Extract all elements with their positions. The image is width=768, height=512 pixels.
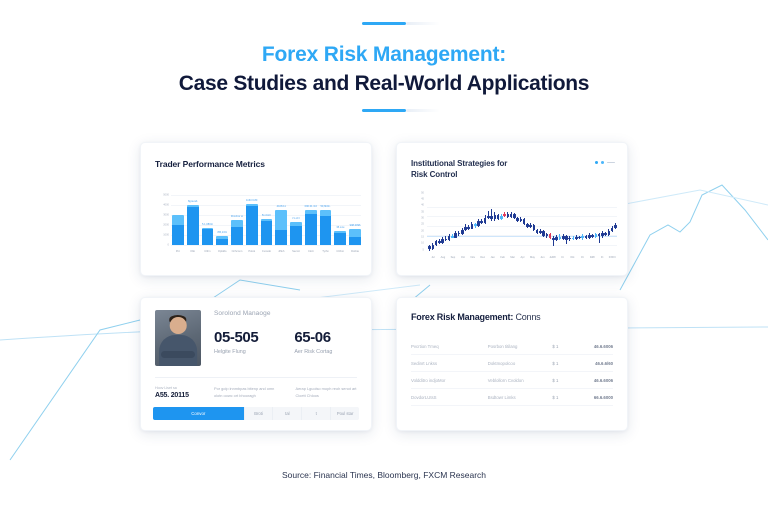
- bar-value-label: 8t5,1/01: [217, 231, 226, 234]
- bar-column: 8grevab: [187, 185, 199, 245]
- table-cell-value: $ 1: [552, 344, 572, 349]
- bar-x-tick: Clthn: [202, 247, 214, 259]
- table-row[interactable]: Voldditro indjoMorVeblollorn Cvoldon$ 14…: [411, 372, 613, 389]
- candle-body: [467, 227, 470, 229]
- candle-body: [523, 219, 526, 223]
- candle-chart-plot: 5045403530252015105 JulAugSepOctNovDecJa…: [411, 191, 617, 267]
- candle-body: [438, 241, 441, 243]
- candle-body: [562, 236, 565, 239]
- page-header: Forex Risk Management: Case Studies and …: [0, 22, 768, 112]
- bar-segment-base: [246, 206, 258, 245]
- profile-top-row: Sorolond Manaoge 05-505 Helgite Flung 65…: [155, 310, 357, 366]
- candle-body: [480, 221, 483, 223]
- candle-y-tick: 40: [421, 204, 424, 207]
- candle-y-tick: 5: [423, 248, 424, 251]
- candle-body: [507, 214, 510, 217]
- bar-segment-base: [231, 227, 243, 246]
- table-cell-name: DovdorLUtsS: [411, 395, 488, 400]
- candle-x-tick: Sep: [448, 256, 458, 267]
- bar-segment-upper: [172, 215, 184, 225]
- candle-body: [542, 231, 545, 235]
- candle-chart-legend: [595, 159, 615, 164]
- stat-caption: Helgite Flung: [214, 349, 258, 355]
- profile-action-button[interactable]: tal: [272, 407, 301, 420]
- bar-value-label: t'1 o0 l: [292, 217, 300, 220]
- bar-segment-base: [216, 239, 228, 245]
- candle-body: [474, 224, 477, 226]
- candle-chart-y-axis: 5045403530252015105: [411, 191, 426, 254]
- bar-column: 51.0n0 l: [261, 185, 273, 245]
- profile-stat-1: 05-505 Helgite Flung: [214, 330, 258, 355]
- bar-value-label: 998.0096: [350, 224, 361, 227]
- candle-y-tick: 30: [421, 217, 424, 220]
- candle-x-tick: Feb: [498, 256, 508, 267]
- profile-divider: [155, 377, 357, 378]
- candle-chart-x-axis: JulAugSepOctNovDecJanFebMarAprMayJunJul0…: [428, 256, 617, 267]
- candle-body: [500, 216, 503, 219]
- bar-x-tick: Clott: [305, 247, 317, 259]
- candle-body: [497, 215, 500, 219]
- table-title-bold: Forex Risk Management:: [411, 312, 513, 322]
- page-title-line2: Case Studies and Real-World Applications: [0, 72, 768, 96]
- bar-column: 090.01 /10: [305, 185, 317, 245]
- bar-column: 5.1,0801t: [202, 185, 214, 245]
- bar-value-label: 50,6b0n.: [320, 205, 330, 208]
- avatar-body: [159, 335, 197, 366]
- candle-x-tick: Jan: [488, 256, 498, 267]
- candle-x-tick: FXFN: [607, 256, 617, 267]
- bar-column: 998.0096: [349, 185, 361, 245]
- table-row[interactable]: Pvcrtion TmeqPosrbon titilang$ 146.6.600…: [411, 338, 613, 355]
- candle-body: [601, 233, 604, 236]
- card-risk-management-table[interactable]: Forex Risk Management: Conns Pvcrtion Tm…: [396, 297, 628, 431]
- bar-y-tick: 0: [168, 244, 169, 247]
- stat-caption: Aer Risk Cortag: [294, 349, 332, 355]
- bar-x-tick: Jihkh: [275, 247, 287, 259]
- candle-body: [546, 234, 549, 235]
- candle-x-tick: Jul08: [547, 256, 557, 267]
- source-footer: Source: Financial Times, Bloomberg, FXCM…: [0, 470, 768, 480]
- bar-x-tick: Cvosdo: [261, 247, 273, 259]
- candle-body: [477, 221, 480, 226]
- bar-value-label: 35.o1u: [336, 226, 344, 229]
- candle-body: [464, 227, 467, 230]
- candle-x-tick: Aug: [438, 256, 448, 267]
- table-cell-name: Sedinrt Lnkss: [411, 361, 488, 366]
- candle-body: [533, 225, 536, 230]
- candle-y-tick: 50: [421, 191, 424, 194]
- bar-y-tick: 3000: [163, 214, 169, 217]
- avatar-arms: [161, 351, 195, 358]
- candle-body: [487, 216, 490, 219]
- candle-body: [510, 214, 513, 217]
- bar-column: 8t5,1/01: [216, 185, 228, 245]
- profile-action-button[interactable]: Convor: [153, 407, 244, 420]
- candle-body: [490, 216, 493, 220]
- candle-body: [614, 225, 617, 228]
- profile-notes: Por golp innmbpas bitenp and omn olotn o…: [214, 386, 357, 400]
- candle-x-tick: Okt: [567, 256, 577, 267]
- bar-x-tick: Oplddo: [216, 247, 228, 259]
- bar-x-tick: Pnt: [172, 247, 184, 259]
- candle-body: [513, 214, 516, 218]
- page-root: Forex Risk Management: Case Studies and …: [0, 0, 768, 512]
- candle-body: [595, 234, 598, 237]
- candle-body: [539, 231, 542, 233]
- legend-dot-a-icon: [595, 161, 598, 164]
- table-cell-type: Veblollorn Cvoldon: [488, 378, 553, 383]
- bar-y-tick: 2000: [163, 223, 169, 226]
- table-cell-amount: 46.6.6006: [573, 378, 613, 383]
- legend-dash-icon: [607, 162, 615, 164]
- candle-body: [529, 225, 532, 227]
- stat-value: 65-06: [294, 330, 332, 345]
- bar-segment-upper: [275, 210, 287, 230]
- profile-role: Sorolond Manaoge: [214, 310, 357, 317]
- bar-x-tick: Ollo: [187, 247, 199, 259]
- table-cell-name: Pvcrtion Tmeq: [411, 344, 488, 349]
- candle-x-tick: Jul: [428, 256, 438, 267]
- bar-segment-base: [320, 216, 332, 245]
- candle-title-line2: Risk Control: [411, 170, 507, 181]
- header-rule-bottom: [362, 109, 406, 112]
- candle-body: [435, 241, 438, 245]
- profile-stats: 05-505 Helgite Flung 65-06 Aer Risk Cort…: [214, 330, 357, 355]
- candle-x-tick: Dec: [478, 256, 488, 267]
- bar-column: [172, 185, 184, 245]
- bar-column: Fbccbor st: [231, 185, 243, 245]
- profile-note-1: Por golp innmbpas bitenp and omn olotn o…: [214, 386, 276, 400]
- bar-x-tick: Secrot: [290, 247, 302, 259]
- candle-x-tick: Ot: [577, 256, 587, 267]
- candle-body: [451, 236, 454, 237]
- table-rows: Pvcrtion TmeqPosrbon titilang$ 146.6.600…: [411, 338, 613, 406]
- candle-body: [559, 237, 562, 239]
- profile-action-button[interactable]: Poul star: [330, 407, 359, 420]
- page-title-line1: Forex Risk Management:: [0, 43, 768, 67]
- bar-segment-base: [187, 207, 199, 245]
- candle-body: [608, 231, 611, 235]
- table-cell-value: $ 1: [552, 361, 572, 366]
- bar-segment-base: [202, 229, 214, 245]
- bar-segment-base: [275, 230, 287, 245]
- candle-body: [581, 236, 584, 238]
- table-cell-type: Bsdtowr Limks: [488, 395, 553, 400]
- candle-x-tick: Apr: [518, 256, 528, 267]
- candle-x-tick: May: [528, 256, 538, 267]
- candle-body: [549, 234, 552, 237]
- table-cell-type: Posrbon titilang: [488, 344, 553, 349]
- table-cell-value: $ 1: [552, 378, 572, 383]
- candle-chart-title: Institutional Strategies for Risk Contro…: [411, 159, 507, 181]
- profile-action-button[interactable]: t: [301, 407, 330, 420]
- candle-x-tick: Mar: [508, 256, 518, 267]
- candle-chart-header: Institutional Strategies for Risk Contro…: [411, 159, 615, 181]
- bar-segment-upper: [231, 220, 243, 227]
- card-trader-profile[interactable]: Sorolond Manaoge 05-505 Helgite Flung 65…: [140, 297, 372, 431]
- candle-body: [520, 219, 523, 221]
- bar-chart-x-axis: PntOlloClthnOplddoOchconnPolokCvosdoJihk…: [172, 247, 361, 259]
- table-title-light: Conns: [515, 312, 540, 322]
- table-cell-type: Doktmopolcoo: [488, 361, 553, 366]
- bar-segment-base: [305, 214, 317, 245]
- candle-y-tick: 15: [421, 235, 424, 238]
- profile-stat-2: 65-06 Aer Risk Cortag: [294, 330, 332, 355]
- table-cell-value: $ 1: [552, 395, 572, 400]
- bar-column: 1163.6.80: [246, 185, 258, 245]
- candle-title-line1: Institutional Strategies for: [411, 159, 507, 170]
- candle-body: [454, 233, 457, 237]
- candle-x-tick: Oct: [458, 256, 468, 267]
- bar-chart-container: Trader Performance Metrics 0100020003000…: [155, 159, 361, 259]
- bar-x-tick: Ochconn: [231, 247, 243, 259]
- candle-body: [441, 239, 444, 243]
- candle-body: [461, 230, 464, 234]
- header-rule-top: [362, 22, 406, 25]
- bar-x-tick: Clthnn: [334, 247, 346, 259]
- candle-body: [565, 236, 568, 239]
- bar-column: 50,6b0n.: [320, 185, 332, 245]
- table-body: Forex Risk Management: Conns Pvcrtion Tm…: [397, 298, 627, 430]
- bar-segment-base: [172, 225, 184, 246]
- bar-value-label: 090.01 /10: [305, 205, 317, 208]
- candle-x-tick: Nov: [468, 256, 478, 267]
- candle-body: [536, 230, 539, 233]
- legend-dot-b-icon: [601, 161, 604, 164]
- table-cell-name: Voldditro indjoMor: [411, 378, 488, 383]
- candle-body: [484, 218, 487, 223]
- avatar: [155, 310, 201, 366]
- profile-lower-row: Hoov Liset sa A55. 20115 Por golp innmbp…: [155, 386, 357, 400]
- candle-body: [552, 238, 555, 241]
- candle-body: [448, 236, 451, 240]
- table-cell-amount: 46.6.6006: [573, 344, 613, 349]
- profile-button-bar[interactable]: ConvorBrotitaltPoul star: [153, 407, 359, 420]
- table-cell-amount: 66.6.6000: [573, 395, 613, 400]
- candle-body: [575, 237, 578, 239]
- bar-x-tick: Polok: [246, 247, 258, 259]
- candle-x-tick: Dd8: [587, 256, 597, 267]
- table-title: Forex Risk Management: Conns: [411, 312, 613, 322]
- bar-column: 35.o1u: [334, 185, 346, 245]
- table-row[interactable]: Sedinrt LnkssDoktmopolcoo$ 146.6.6/60: [411, 355, 613, 372]
- bar-segment-base: [290, 226, 302, 246]
- table-row[interactable]: DovdorLUtsSBsdtowr Limks$ 166.6.6000: [411, 389, 613, 406]
- bar-chart-title: Trader Performance Metrics: [155, 159, 361, 169]
- bar-x-tick: Dstbte: [349, 247, 361, 259]
- bar-chart-plot: 010002000300040005000 8grevab5.1,0801t8t…: [155, 185, 361, 259]
- card-institutional-strategies[interactable]: Institutional Strategies for Risk Contro…: [396, 142, 628, 276]
- candle-body: [432, 245, 435, 249]
- stat-value: 05-505: [214, 330, 258, 345]
- bar-value-label: Fbccbor st: [231, 215, 243, 218]
- candle-y-tick: 45: [421, 198, 424, 201]
- bar-value-label: 8grevab: [188, 200, 197, 203]
- bar-value-label: 4108.11: [277, 205, 286, 208]
- bar-segment-base: [334, 233, 346, 246]
- profile-note-2: Aerap Lguolso moph reoh senot art Cloett…: [296, 386, 358, 400]
- bar-value-label: 1163.6.80: [246, 199, 257, 202]
- candle-body: [585, 236, 588, 237]
- bar-value-label: 51.0n0 l: [262, 214, 271, 217]
- candle-y-tick: 35: [421, 210, 424, 213]
- bar-segment-base: [349, 237, 361, 246]
- bar-chart-bars: 8grevab5.1,0801t8t5,1/01Fbccbor st1163.6…: [172, 185, 361, 245]
- table-cell-amount: 46.6.6/60: [573, 361, 613, 366]
- candle-body: [604, 233, 607, 235]
- candle-body: [516, 218, 519, 221]
- candle-x-tick: Ft: [597, 256, 607, 267]
- bar-x-tick: Tythn: [320, 247, 332, 259]
- bar-y-tick: 4000: [163, 203, 169, 206]
- candle-chart-candles: [428, 191, 617, 254]
- candle-body: [526, 224, 529, 227]
- badge-value: A55. 20115: [155, 392, 201, 399]
- avatar-head: [170, 317, 187, 334]
- candle-body: [503, 214, 506, 217]
- bar-gridline: [171, 245, 361, 246]
- badge-caption: Hoov Liset sa: [155, 386, 201, 390]
- candle-body: [428, 246, 431, 249]
- bar-y-tick: 5000: [163, 193, 169, 196]
- bar-column: t'1 o0 l: [290, 185, 302, 245]
- candle-body: [588, 235, 591, 238]
- candle-x-tick: Jun: [537, 256, 547, 267]
- card-trader-performance[interactable]: Trader Performance Metrics 0100020003000…: [140, 142, 372, 276]
- candle-y-tick: 25: [421, 223, 424, 226]
- candle-y-tick: 20: [421, 229, 424, 232]
- candle-body: [591, 235, 594, 237]
- bar-column: 4108.11: [275, 185, 287, 245]
- candle-body: [555, 237, 558, 240]
- candle-body: [471, 224, 474, 228]
- profile-details: Sorolond Manaoge 05-505 Helgite Flung 65…: [214, 310, 357, 366]
- bar-segment-base: [261, 221, 273, 246]
- bar-segment-upper: [349, 229, 361, 237]
- bar-value-label: 5.1,0801t: [202, 223, 213, 226]
- bar-chart-y-axis: 010002000300040005000: [155, 185, 171, 245]
- candle-y-tick: 10: [421, 242, 424, 245]
- profile-badge: Hoov Liset sa A55. 20115: [155, 386, 201, 400]
- profile-action-button[interactable]: Broti: [244, 407, 273, 420]
- candle-x-tick: Ct: [557, 256, 567, 267]
- bar-y-tick: 1000: [163, 234, 169, 237]
